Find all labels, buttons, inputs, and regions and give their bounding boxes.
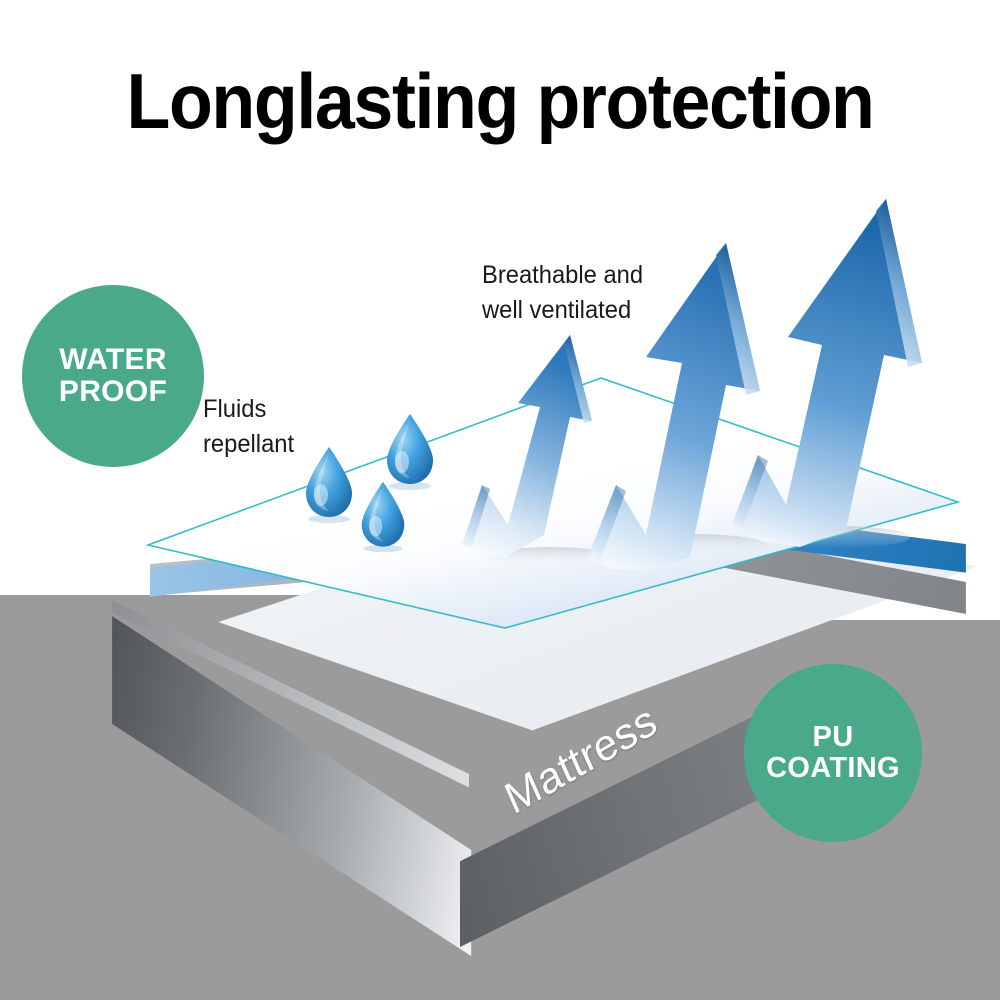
infographic-canvas: Longlasting protection Mattress: [0, 0, 1000, 1000]
airflow-arrows-group: [440, 185, 940, 585]
water-droplet-icon: [381, 412, 439, 492]
callout-breathable-label: Breathable and well ventilated: [482, 258, 643, 327]
water-droplet-icon: [300, 445, 358, 525]
badge-pu-coating-line1: PU: [813, 722, 854, 753]
badge-pu-coating[interactable]: PU COATING: [744, 664, 922, 842]
page-title: Longlasting protection: [40, 62, 960, 140]
badge-waterproof[interactable]: WATER PROOF: [22, 285, 204, 467]
badge-waterproof-line1: WATER: [59, 344, 167, 376]
badge-pu-coating-line2: COATING: [766, 753, 900, 784]
badge-waterproof-line2: PROOF: [59, 376, 167, 408]
up-arrow-icon-large: [732, 199, 922, 547]
up-arrow-icon-small: [462, 335, 592, 557]
callout-fluids-repellant-label: Fluids repellant: [203, 392, 294, 461]
